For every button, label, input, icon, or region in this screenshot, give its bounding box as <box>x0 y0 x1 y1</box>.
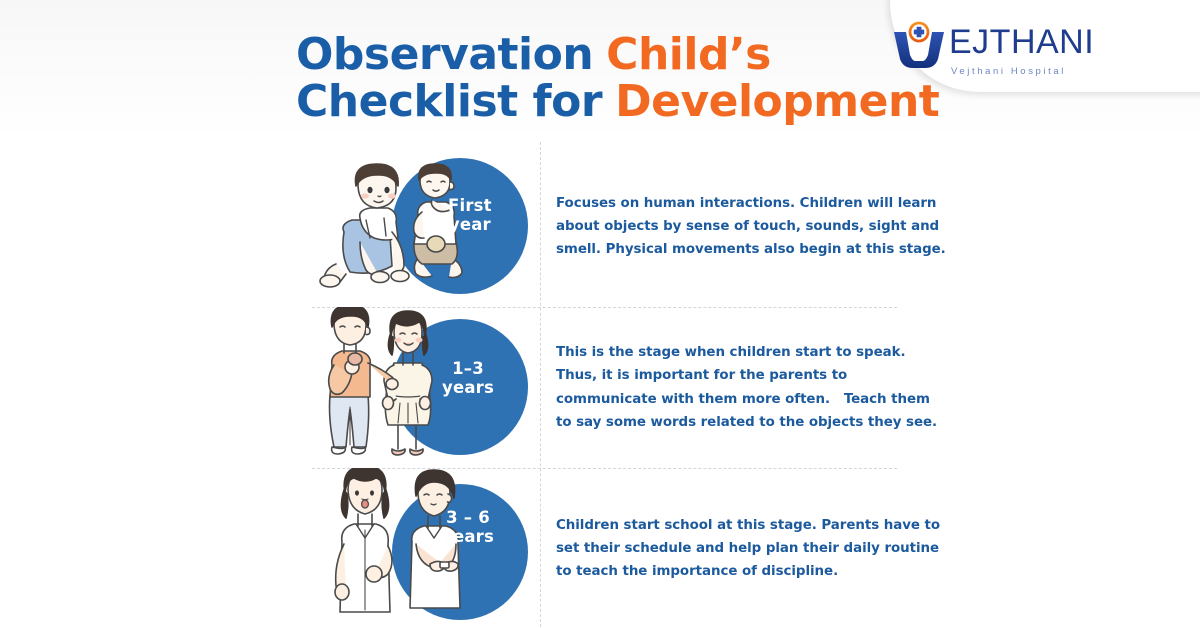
checklist-rows: First year Focuses on human interactions… <box>0 146 1200 628</box>
row-description: This is the stage when children start to… <box>556 341 946 433</box>
logo-panel: EJTHANI Vejthani Hospital <box>890 0 1200 92</box>
vejthani-v-cross-icon <box>890 21 948 69</box>
vejthani-logo[interactable]: EJTHANI Vejthani Hospital <box>890 21 1192 78</box>
title-line2-blue: Checklist for <box>296 80 602 124</box>
page-title: Observation Child’s Checklist for Develo… <box>296 33 939 124</box>
title-line1-orange: Child’s <box>606 33 771 77</box>
two-school-children-with-backpacks-illustration <box>300 468 530 628</box>
row-visual: 1–3 years <box>300 307 530 468</box>
age-label: 1–3 years <box>442 359 494 397</box>
title-line1-blue: Observation <box>296 33 593 77</box>
row-description: Children start school at this stage. Par… <box>556 514 946 583</box>
two-toddlers-crawling-and-sitting-illustration <box>300 146 530 307</box>
row-visual: 3 – 6 years <box>300 468 530 628</box>
row-visual: First year <box>300 146 530 307</box>
age-label: 3 – 6 years <box>442 508 494 546</box>
checklist-row: 1–3 years This is the stage when childre… <box>0 307 1200 468</box>
infographic-canvas: EJTHANI Vejthani Hospital Observation Ch… <box>0 0 1200 628</box>
logo-tagline: Vejthani Hospital <box>951 66 1066 77</box>
row-description: Focuses on human interactions. Children … <box>556 192 946 261</box>
checklist-row: 3 – 6 years Children start school at thi… <box>0 468 1200 628</box>
boy-and-girl-standing-toddlers-illustration <box>300 307 530 468</box>
age-label: First year <box>448 196 492 234</box>
checklist-row: First year Focuses on human interactions… <box>0 146 1200 307</box>
logo-wordmark: EJTHANI <box>949 23 1094 61</box>
title-line2-orange: Development <box>615 80 939 124</box>
